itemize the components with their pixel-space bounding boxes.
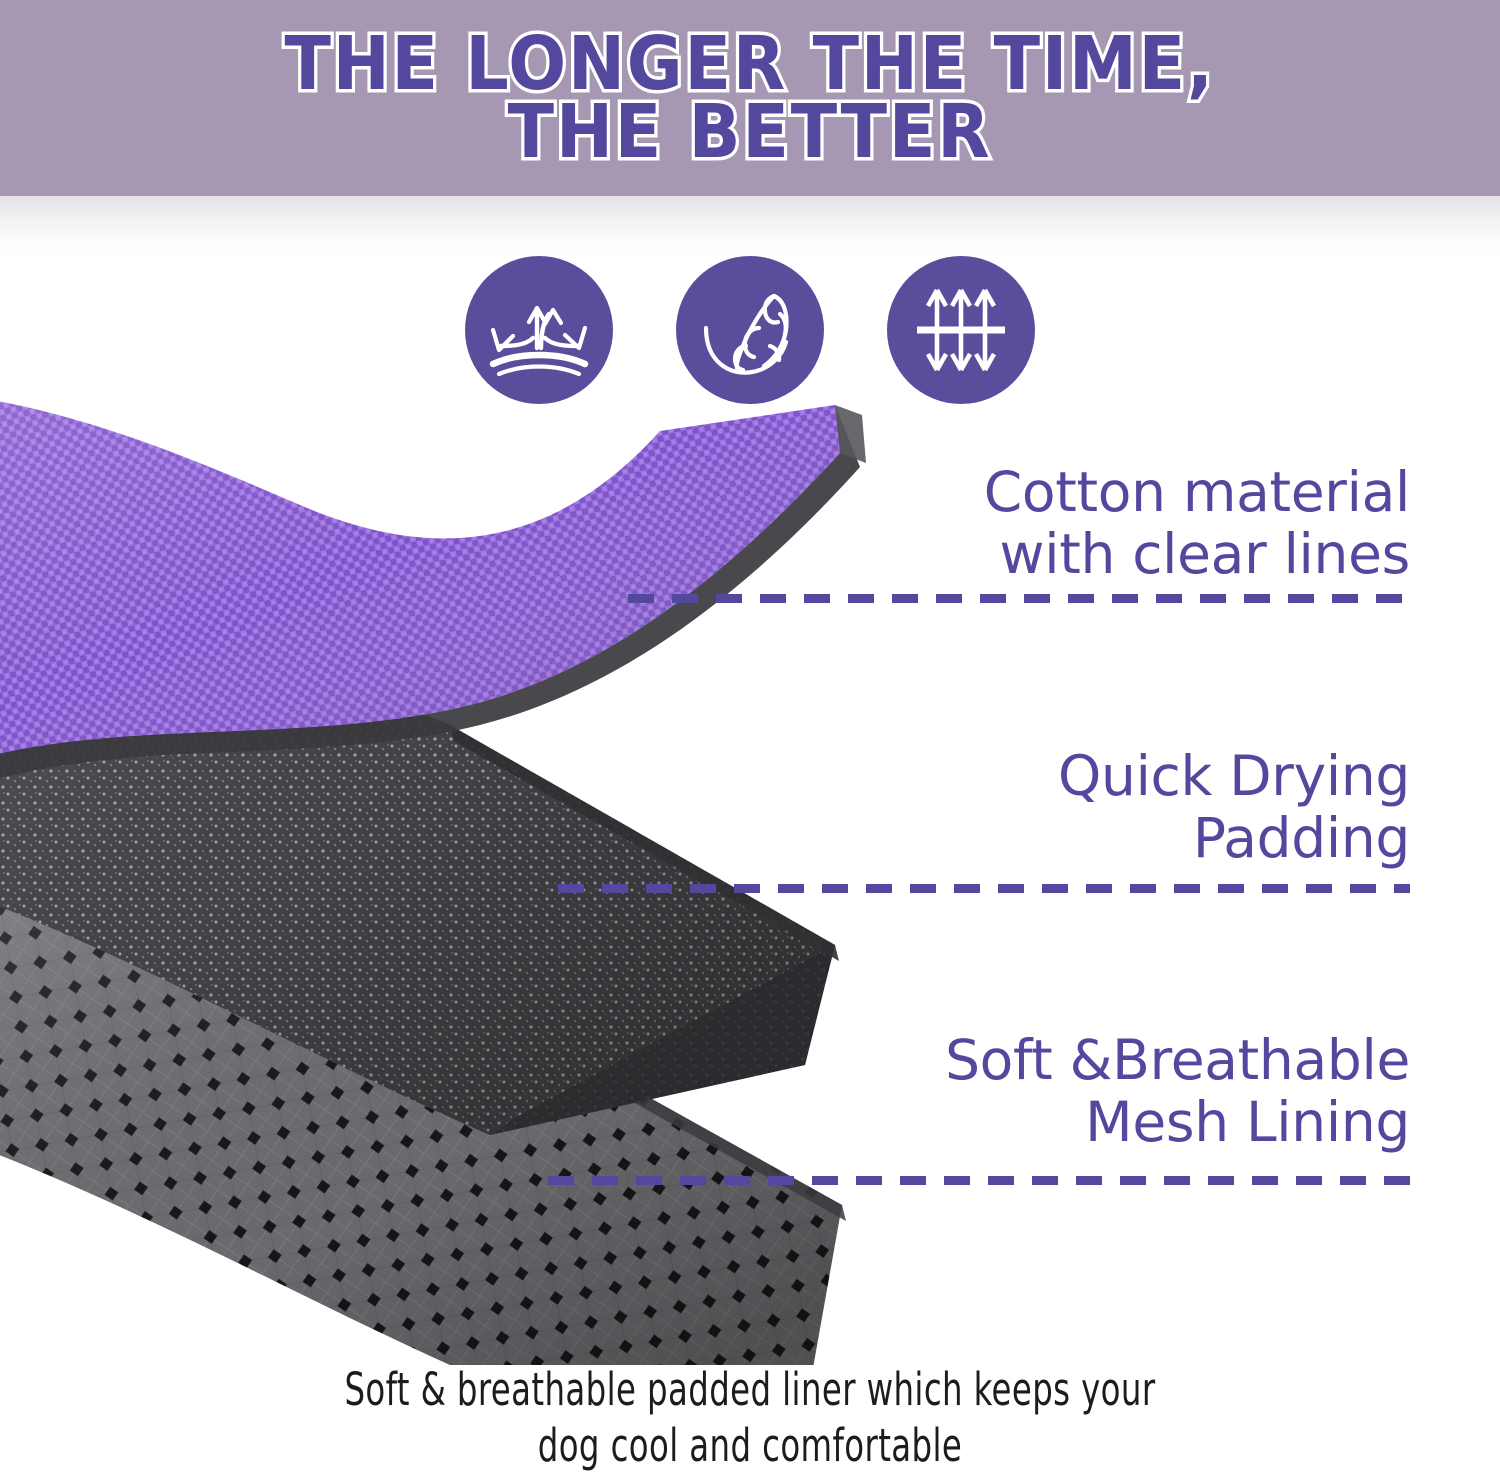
feather-soft-glyph [690, 270, 810, 390]
material-layers-illustration [0, 375, 900, 1365]
material-layers-svg [0, 375, 900, 1365]
feature-label-text: Quick Drying Padding [770, 746, 1410, 869]
bottom-caption: Soft & breathable padded liner which kee… [150, 1362, 1350, 1474]
leader-line-cotton-material [628, 594, 1410, 603]
infographic-page: THE LONGER THE TIME, THE BETTER [0, 0, 1500, 1478]
header-fade-divider [0, 196, 1500, 258]
moisture-wicking-glyph [479, 270, 599, 390]
feature-label-text: Soft &Breathable Mesh Lining [770, 1030, 1410, 1153]
air-permeability-icon [887, 256, 1035, 404]
air-permeability-glyph [901, 270, 1021, 390]
leader-line-quick-drying-padding [558, 884, 1410, 893]
feature-label-quick-drying-padding: Quick Drying Padding [770, 746, 1410, 869]
feature-label-cotton-material: Cotton material with clear lines [770, 462, 1410, 585]
header-band: THE LONGER THE TIME, THE BETTER [0, 0, 1500, 196]
leader-line-mesh-lining [548, 1176, 1410, 1185]
page-title: THE LONGER THE TIME, THE BETTER [285, 30, 1215, 166]
feature-label-text: Cotton material with clear lines [770, 462, 1410, 585]
feature-label-mesh-lining: Soft &Breathable Mesh Lining [770, 1030, 1410, 1153]
